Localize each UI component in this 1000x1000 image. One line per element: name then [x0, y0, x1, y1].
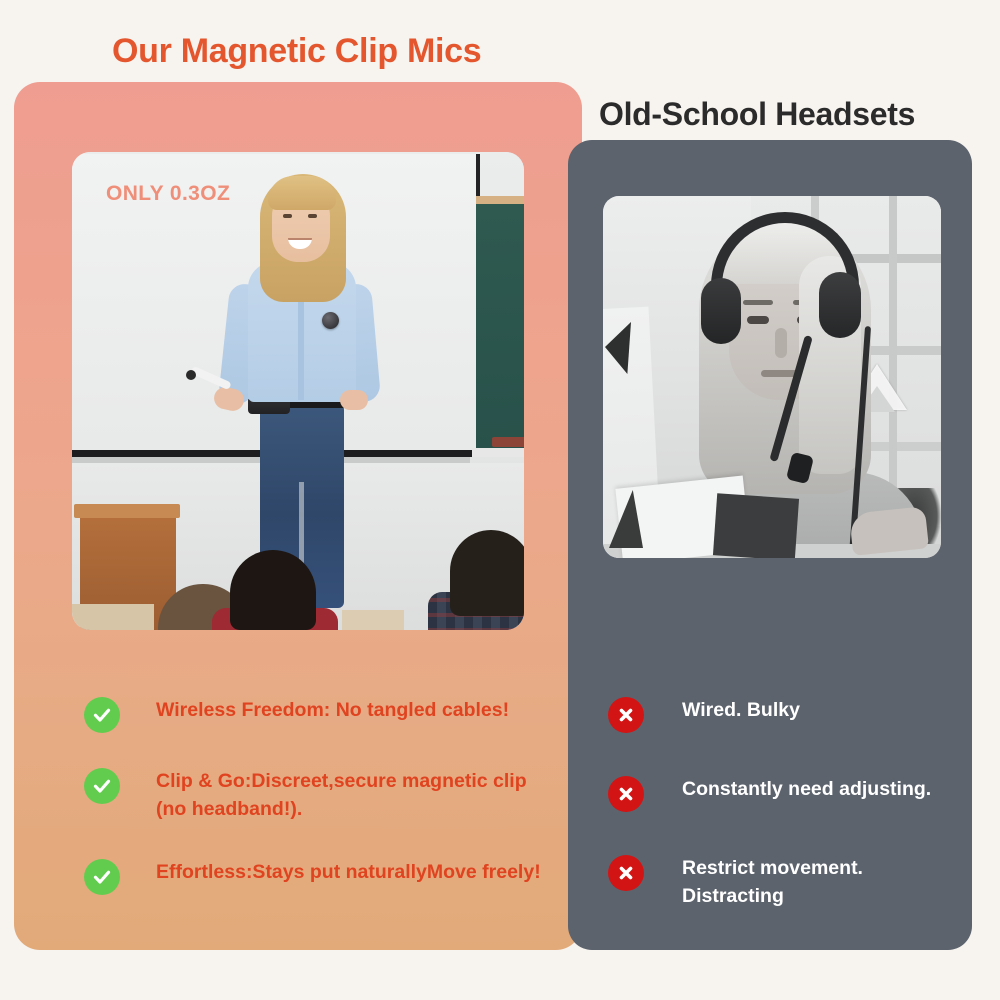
x-circle-icon	[608, 776, 644, 812]
student-head-right	[450, 530, 524, 616]
chalkboard	[476, 204, 524, 450]
check-circle-icon	[84, 859, 120, 895]
list-item: Clip & Go:Discreet,secure magnetic clip …	[84, 767, 554, 824]
marker-tip	[186, 370, 196, 380]
list-item: Wireless Freedom: No tangled cables!	[84, 696, 554, 733]
list-item: Effortless:Stays put naturallyMove freel…	[84, 858, 554, 895]
comparison-infographic: Our Magnetic Clip Mics	[0, 0, 1000, 1000]
con-photo	[603, 196, 941, 558]
woman-left-brow	[743, 300, 773, 305]
check-circle-icon	[84, 768, 120, 804]
list-item-label: Effortless:Stays put naturallyMove freel…	[156, 858, 541, 886]
con-bullet-list: Wired. Bulky Constantly need adjusting. …	[608, 696, 948, 953]
student-desk-left	[72, 604, 154, 630]
student-head-center	[230, 550, 316, 630]
list-item: Wired. Bulky	[608, 696, 948, 733]
folder	[713, 493, 799, 558]
clip-microphone-icon	[322, 312, 339, 329]
list-item: Restrict movement. Distracting	[608, 854, 948, 911]
x-circle-icon	[608, 855, 644, 891]
list-item-label: Wired. Bulky	[682, 696, 800, 724]
list-item-label: Constantly need adjusting.	[682, 775, 931, 803]
pro-title: Our Magnetic Clip Mics	[112, 32, 481, 71]
teacher-left-eye	[283, 214, 292, 218]
book	[492, 437, 524, 447]
x-circle-icon	[608, 697, 644, 733]
list-item-label: Clip & Go:Discreet,secure magnetic clip …	[156, 767, 554, 824]
teacher-hair-front	[268, 176, 336, 210]
pro-bullet-list: Wireless Freedom: No tangled cables! Cli…	[84, 696, 554, 929]
check-circle-icon	[84, 697, 120, 733]
headset-earcup-left	[701, 278, 741, 344]
weight-callout: ONLY 0.3OZ	[106, 182, 230, 206]
student-desk-right	[342, 610, 404, 630]
teacher-right-eye	[308, 214, 317, 218]
woman-left-eye	[747, 316, 769, 324]
list-item-label: Restrict movement. Distracting	[682, 854, 948, 911]
list-item: Constantly need adjusting.	[608, 775, 948, 812]
chalkboard-ledge	[472, 448, 524, 457]
con-title: Old-School Headsets	[599, 96, 915, 133]
shelf-divider	[889, 196, 897, 496]
pro-photo: ONLY 0.3OZ	[72, 152, 524, 630]
headset-earcup-right	[819, 272, 861, 338]
woman-nose	[775, 328, 787, 358]
list-item-label: Wireless Freedom: No tangled cables!	[156, 696, 509, 724]
teacher-right-hand	[340, 390, 368, 410]
podium-top	[74, 504, 180, 518]
